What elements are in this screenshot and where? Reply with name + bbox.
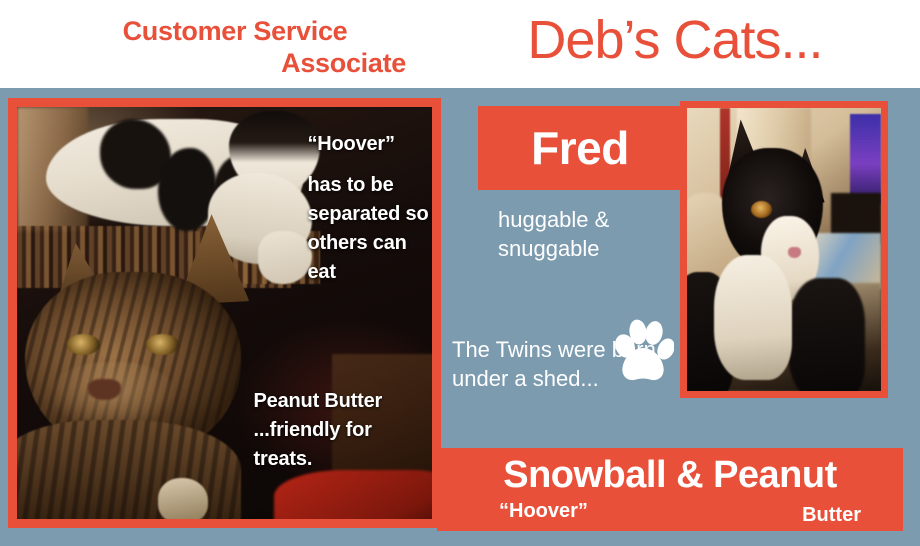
peanut-butter-cat-nose [88, 379, 121, 400]
right-photo-tv-screen [850, 114, 881, 205]
bottom-banner-title: Snowball & Peanut [437, 454, 903, 497]
fred-cat-chest [714, 255, 792, 380]
left-photo-image: “Hoover” has to be separated so others c… [17, 107, 432, 519]
bottom-banner-subtitle-right: Butter [802, 504, 861, 527]
slide-canvas: Customer Service Associate Deb’s Cats... [0, 0, 920, 546]
left-photo-bottom-caption: Peanut Butter ...friendly for treats. [254, 387, 432, 474]
fred-cat-shoulder-right [788, 278, 866, 391]
page-title: Deb’s Cats... [440, 8, 910, 73]
slide-header: Customer Service Associate Deb’s Cats... [0, 0, 920, 88]
left-photo-top-caption-name: “Hoover” [308, 130, 433, 159]
right-photo-image [687, 108, 881, 391]
left-photo-top-caption-body: has to be separated so others can eat [308, 174, 429, 283]
bottom-banner-subtitle-left: “Hoover” [499, 500, 588, 523]
paw-print-icon [612, 318, 674, 388]
peanut-butter-cat-eye-left [67, 334, 100, 355]
subject-heading-line-1: Customer Service [123, 16, 348, 46]
peanut-butter-cat-front-paw [158, 478, 208, 519]
left-photo-frame: “Hoover” has to be separated so others c… [8, 98, 441, 528]
peanut-butter-cat-eye-right [146, 334, 179, 355]
left-photo-top-caption: “Hoover” has to be separated so others c… [308, 130, 433, 287]
fred-description: huggable & snuggable [498, 205, 678, 263]
right-photo-frame [680, 101, 888, 398]
bottom-banner: Snowball & Peanut “Hoover” Butter [437, 448, 903, 531]
subject-heading: Customer Service Associate [60, 16, 410, 80]
hoover-cat-paw [258, 231, 312, 285]
subject-heading-line-2: Associate [60, 48, 410, 80]
left-photo-red-blanket [274, 470, 432, 519]
fred-title-box: Fred [478, 106, 682, 190]
fred-name-label: Fred [478, 106, 682, 190]
